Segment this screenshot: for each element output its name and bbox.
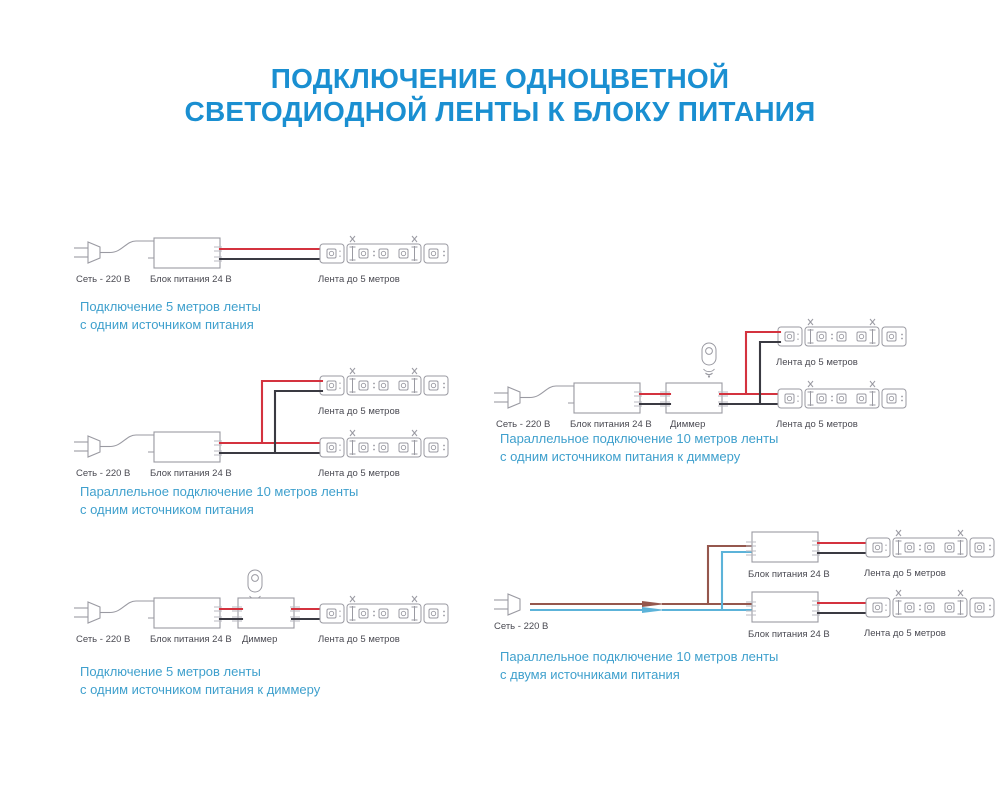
caption-3-line-1: Подключение 5 метров ленты [80, 663, 320, 681]
page-title-line-2: СВЕТОДИОДНОЙ ЛЕНТЫ К БЛОКУ ПИТАНИЯ [0, 95, 1000, 128]
label-strip-top: Лента до 5 метров [864, 568, 946, 579]
label-strip: Лента до 5 метров [318, 634, 400, 645]
led-strip-bottom [778, 381, 906, 408]
dimmer-box [238, 598, 294, 628]
led-strip-bottom [866, 590, 994, 617]
label-mains: Сеть - 220 В [76, 468, 130, 479]
label-psu-top: Блок питания 24 В [748, 569, 830, 580]
power-supply-box [752, 532, 818, 562]
led-strip-1 [320, 596, 448, 623]
caption-diagram-5: Параллельное подключение 10 метров ленты… [500, 648, 778, 683]
diagram-2-svg [70, 364, 490, 479]
label-strip-bottom: Лента до 5 метров [776, 419, 858, 430]
caption-diagram-2: Параллельное подключение 10 метров ленты… [80, 483, 358, 518]
diagram-single-psu-10m-parallel: Лента до 5 метров Сеть - 220 В Блок пита… [70, 364, 490, 474]
mains-plug-icon [74, 435, 154, 457]
power-supply-box [154, 238, 220, 268]
label-strip-bottom: Лента до 5 метров [864, 628, 946, 639]
label-mains: Сеть - 220 В [496, 419, 550, 430]
parallel-wires [220, 381, 322, 453]
diagram-single-psu-5m-dimmer: Сеть - 220 В Блок питания 24 В Диммер Ле… [70, 570, 490, 640]
mains-plug-icon [74, 241, 154, 263]
signal-waves-icon [704, 369, 715, 378]
power-supply-box [154, 432, 220, 462]
remote-control-icon [702, 343, 716, 378]
label-mains: Сеть - 220 В [494, 621, 548, 632]
caption-diagram-1: Подключение 5 метров ленты с одним источ… [80, 298, 261, 333]
label-strip: Лента до 5 метров [318, 274, 400, 285]
diagram-dual-psu-10m-parallel: Лента до 5 метров Блок питания 24 В Сеть… [490, 520, 960, 645]
label-strip-bottom: Лента до 5 метров [318, 468, 400, 479]
power-supply-box [752, 592, 818, 622]
diagram-3-svg [70, 570, 490, 640]
diagram-single-psu-10m-dimmer-parallel: Лента до 5 метров Сеть - 220 В Блок пита… [490, 315, 960, 425]
diagram-single-psu-5m: Сеть - 220 В Блок питания 24 В Лента до … [70, 232, 490, 292]
label-dimmer: Диммер [242, 634, 277, 645]
led-strip-top [320, 368, 448, 395]
mains-plug-icon [74, 601, 154, 623]
caption-3-line-2: с одним источником питания к диммеру [80, 681, 320, 699]
label-mains: Сеть - 220 В [76, 634, 130, 645]
label-strip-top: Лента до 5 метров [318, 406, 400, 417]
power-supply-box [154, 598, 220, 628]
led-strip-bottom [320, 430, 448, 457]
label-psu: Блок питания 24 В [150, 634, 232, 645]
caption-diagram-3: Подключение 5 метров ленты с одним источ… [80, 663, 320, 698]
page-title-line-1: ПОДКЛЮЧЕНИЕ ОДНОЦВЕТНОЙ [0, 62, 1000, 95]
diagram-1-svg [70, 232, 490, 292]
diagram-4-svg [490, 315, 960, 430]
label-dimmer: Диммер [670, 419, 705, 430]
caption-4-line-1: Параллельное подключение 10 метров ленты [500, 430, 778, 448]
caption-1-line-1: Подключение 5 метров ленты [80, 298, 261, 316]
label-psu-bottom: Блок питания 24 В [748, 629, 830, 640]
power-supply-box [574, 383, 640, 413]
label-strip-top: Лента до 5 метров [776, 357, 858, 368]
label-mains: Сеть - 220 В [76, 274, 130, 285]
caption-diagram-4: Параллельное подключение 10 метров ленты… [500, 430, 778, 465]
caption-5-line-1: Параллельное подключение 10 метров ленты [500, 648, 778, 666]
caption-2-line-2: с одним источником питания [80, 501, 358, 519]
mains-split-wires [530, 546, 752, 613]
label-psu: Блок питания 24 В [570, 419, 652, 430]
label-psu: Блок питания 24 В [150, 274, 232, 285]
mains-plug-icon [494, 594, 520, 615]
caption-2-line-1: Параллельное подключение 10 метров ленты [80, 483, 358, 501]
label-psu: Блок питания 24 В [150, 468, 232, 479]
output-wires [220, 249, 322, 259]
caption-4-line-2: с одним источником питания к диммеру [500, 448, 778, 466]
led-strip-1 [320, 236, 448, 263]
dimmer-box [666, 383, 722, 413]
caption-1-line-2: с одним источником питания [80, 316, 261, 334]
page-title: ПОДКЛЮЧЕНИЕ ОДНОЦВЕТНОЙ СВЕТОДИОДНОЙ ЛЕН… [0, 62, 1000, 128]
diagram-poster: ПОДКЛЮЧЕНИЕ ОДНОЦВЕТНОЙ СВЕТОДИОДНОЙ ЛЕН… [0, 0, 1000, 800]
caption-5-line-2: с двумя источниками питания [500, 666, 778, 684]
mains-plug-icon [494, 386, 574, 408]
led-strip-top [866, 530, 994, 557]
led-strip-top [778, 319, 906, 346]
